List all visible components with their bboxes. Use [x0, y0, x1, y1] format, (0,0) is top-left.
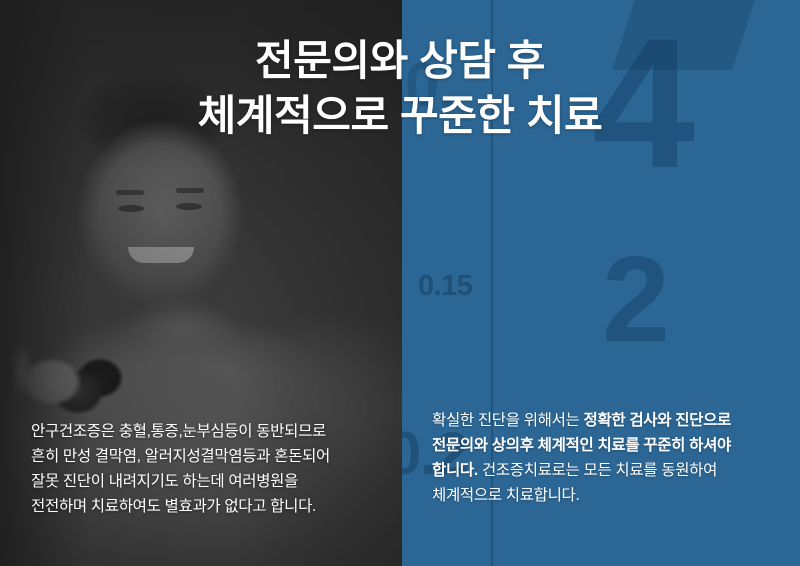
decorative-value-015: 0.15 [418, 272, 472, 301]
right-copy-line-1-bold: 정확한 검사와 진단으로 [584, 412, 732, 429]
right-copy-line-4: 체계적으로 치료합니다. [432, 483, 782, 508]
decorative-number-two: 2 [602, 238, 667, 360]
right-copy-line-3-bold: 합니다. [432, 462, 478, 479]
left-copy-line-1: 안구건조증은 충혈,통증,눈부심등이 동반되므로 [31, 419, 391, 444]
right-copy-line-3-plain: 건조증치료로는 모든 치료를 동원하여 [478, 462, 717, 479]
right-copy-line-1: 확실한 진단을 위해서는 정확한 검사와 진단으로 [432, 408, 782, 433]
right-copy-line-2-bold: 전문의와 상의후 체계적인 치료를 꾸준히 하셔야 [432, 437, 731, 454]
left-body-copy: 안구건조증은 충혈,통증,눈부심등이 동반되므로 흔히 만성 결막염, 알러지성… [31, 419, 391, 519]
left-copy-line-3: 잘못 진단이 내려지기도 하는데 여러병원을 [31, 469, 391, 494]
promo-banner: 0. 4 0.15 2 0.2 전문의와 상담 후 체계적으로 꾸준한 치료 안… [0, 0, 800, 566]
title-line-2: 체계적으로 꾸준한 치료 [0, 89, 800, 144]
banner-title: 전문의와 상담 후 체계적으로 꾸준한 치료 [0, 34, 800, 143]
left-copy-line-4: 전전하며 치료하여도 별효과가 없다고 합니다. [31, 494, 391, 519]
right-body-copy: 확실한 진단을 위해서는 정확한 검사와 진단으로 전문의와 상의후 체계적인 … [432, 408, 782, 508]
right-copy-line-2: 전문의와 상의후 체계적인 치료를 꾸준히 하셔야 [432, 433, 782, 458]
right-copy-line-1-plain: 확실한 진단을 위해서는 [432, 412, 584, 429]
left-copy-line-2: 흔히 만성 결막염, 알러지성결막염등과 혼돈되어 [31, 444, 391, 469]
title-line-1: 전문의와 상담 후 [0, 34, 800, 89]
right-copy-line-3: 합니다. 건조증치료로는 모든 치료를 동원하여 [432, 458, 782, 483]
